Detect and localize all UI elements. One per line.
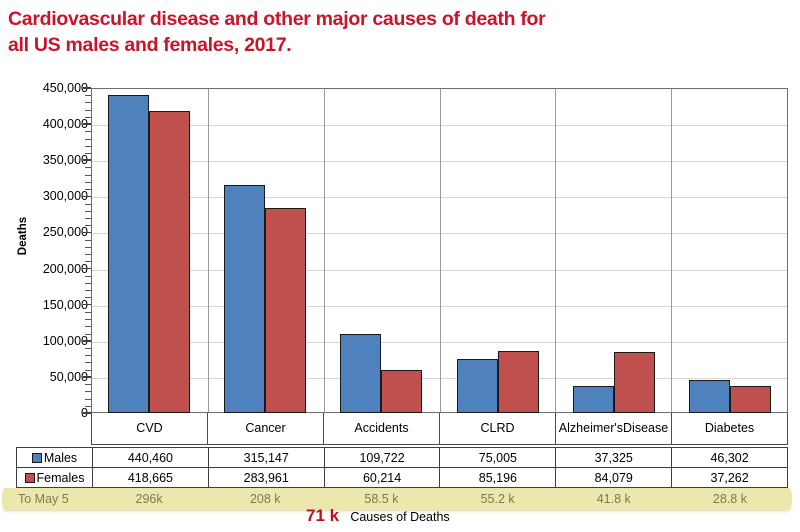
legend-swatch-icon (25, 473, 35, 483)
category-separator (324, 89, 325, 412)
y-axis-tick-label: 50,000 (2, 370, 88, 384)
table-cell-value: 60,214 (324, 468, 440, 488)
x-axis-category-label: Alzheimer'sDisease (556, 413, 672, 444)
y-axis-tick-label: 300,000 (2, 189, 88, 203)
annotation-value: 58.5 k (323, 492, 439, 506)
category-separator (555, 89, 556, 412)
annotation-value: 41.8 k (556, 492, 672, 506)
y-axis-major-tick (83, 376, 91, 378)
y-axis-tick-label: 350,000 (2, 153, 88, 167)
category-separator (671, 89, 672, 412)
chart-title-line-1: Cardiovascular disease and other major c… (8, 8, 545, 30)
table-cell-value: 84,079 (556, 468, 672, 488)
series-legend-cell: Females (17, 468, 93, 488)
x-axis-category-label: Cancer (208, 413, 324, 444)
annotation-row: To May 5 296k208 k58.5 k55.2 k41.8 k28.8… (16, 489, 788, 509)
plot-area (91, 88, 788, 413)
table-cell-value: 46,302 (672, 448, 788, 468)
annotation-row-label: To May 5 (16, 492, 91, 506)
table-cell-value: 418,665 (93, 468, 209, 488)
y-axis-tick-label: 100,000 (2, 334, 88, 348)
y-axis-tick-label: 450,000 (2, 81, 88, 95)
y-axis-major-tick (83, 304, 91, 306)
x-axis-category-label: Accidents (324, 413, 440, 444)
category-separator (440, 89, 441, 412)
series-name: Males (44, 451, 77, 465)
y-axis-major-tick (83, 123, 91, 125)
table-cell-value: 440,460 (93, 448, 209, 468)
table-row: Females418,665283,96160,21485,19684,0793… (17, 468, 788, 488)
annotation-row-values: 296k208 k58.5 k55.2 k41.8 k28.8 k (91, 492, 788, 506)
y-axis-tick-label: 0 (2, 406, 88, 420)
y-axis-major-tick (83, 196, 91, 198)
y-axis-major-tick (83, 340, 91, 342)
y-axis-major-tick (83, 232, 91, 234)
annotation-value: 28.8 k (672, 492, 788, 506)
x-axis-category-label: CLRD (440, 413, 556, 444)
category-separator (208, 89, 209, 412)
table-cell-value: 315,147 (208, 448, 324, 468)
page-title: Cardiovascular disease and other major c… (8, 6, 788, 59)
x-axis-title: Causes of Deaths (0, 510, 800, 524)
y-axis-tick-label: 150,000 (2, 298, 88, 312)
table-cell-value: 75,005 (440, 448, 556, 468)
annotation-value: 55.2 k (440, 492, 556, 506)
legend-swatch-icon (32, 453, 42, 463)
x-axis-category-label: Diabetes (672, 413, 787, 444)
chart-title-line-2: all US males and females, 2017. (8, 34, 291, 56)
y-axis-major-tick (83, 87, 91, 89)
table-cell-value: 37,325 (556, 448, 672, 468)
x-axis-category-row: CVDCancerAccidentsCLRDAlzheimer'sDisease… (91, 413, 788, 445)
y-axis-tick-label: 250,000 (2, 225, 88, 239)
series-name: Females (37, 471, 85, 485)
x-axis-category-label: CVD (92, 413, 208, 444)
y-axis-tick-label: 200,000 (2, 262, 88, 276)
table-row: Males440,460315,147109,72275,00537,32546… (17, 448, 788, 468)
data-table: Males440,460315,147109,72275,00537,32546… (16, 447, 788, 488)
table-cell-value: 283,961 (208, 468, 324, 488)
y-axis-major-tick (83, 159, 91, 161)
table-cell-value: 37,262 (672, 468, 788, 488)
y-axis-major-tick (83, 412, 91, 414)
series-legend-cell: Males (17, 448, 93, 468)
y-axis-major-tick (83, 268, 91, 270)
table-cell-value: 85,196 (440, 468, 556, 488)
table-cell-value: 109,722 (324, 448, 440, 468)
data-table-body: Males440,460315,147109,72275,00537,32546… (17, 448, 788, 488)
annotation-value: 296k (91, 492, 207, 506)
annotation-value: 208 k (207, 492, 323, 506)
y-axis-tick-label: 400,000 (2, 117, 88, 131)
